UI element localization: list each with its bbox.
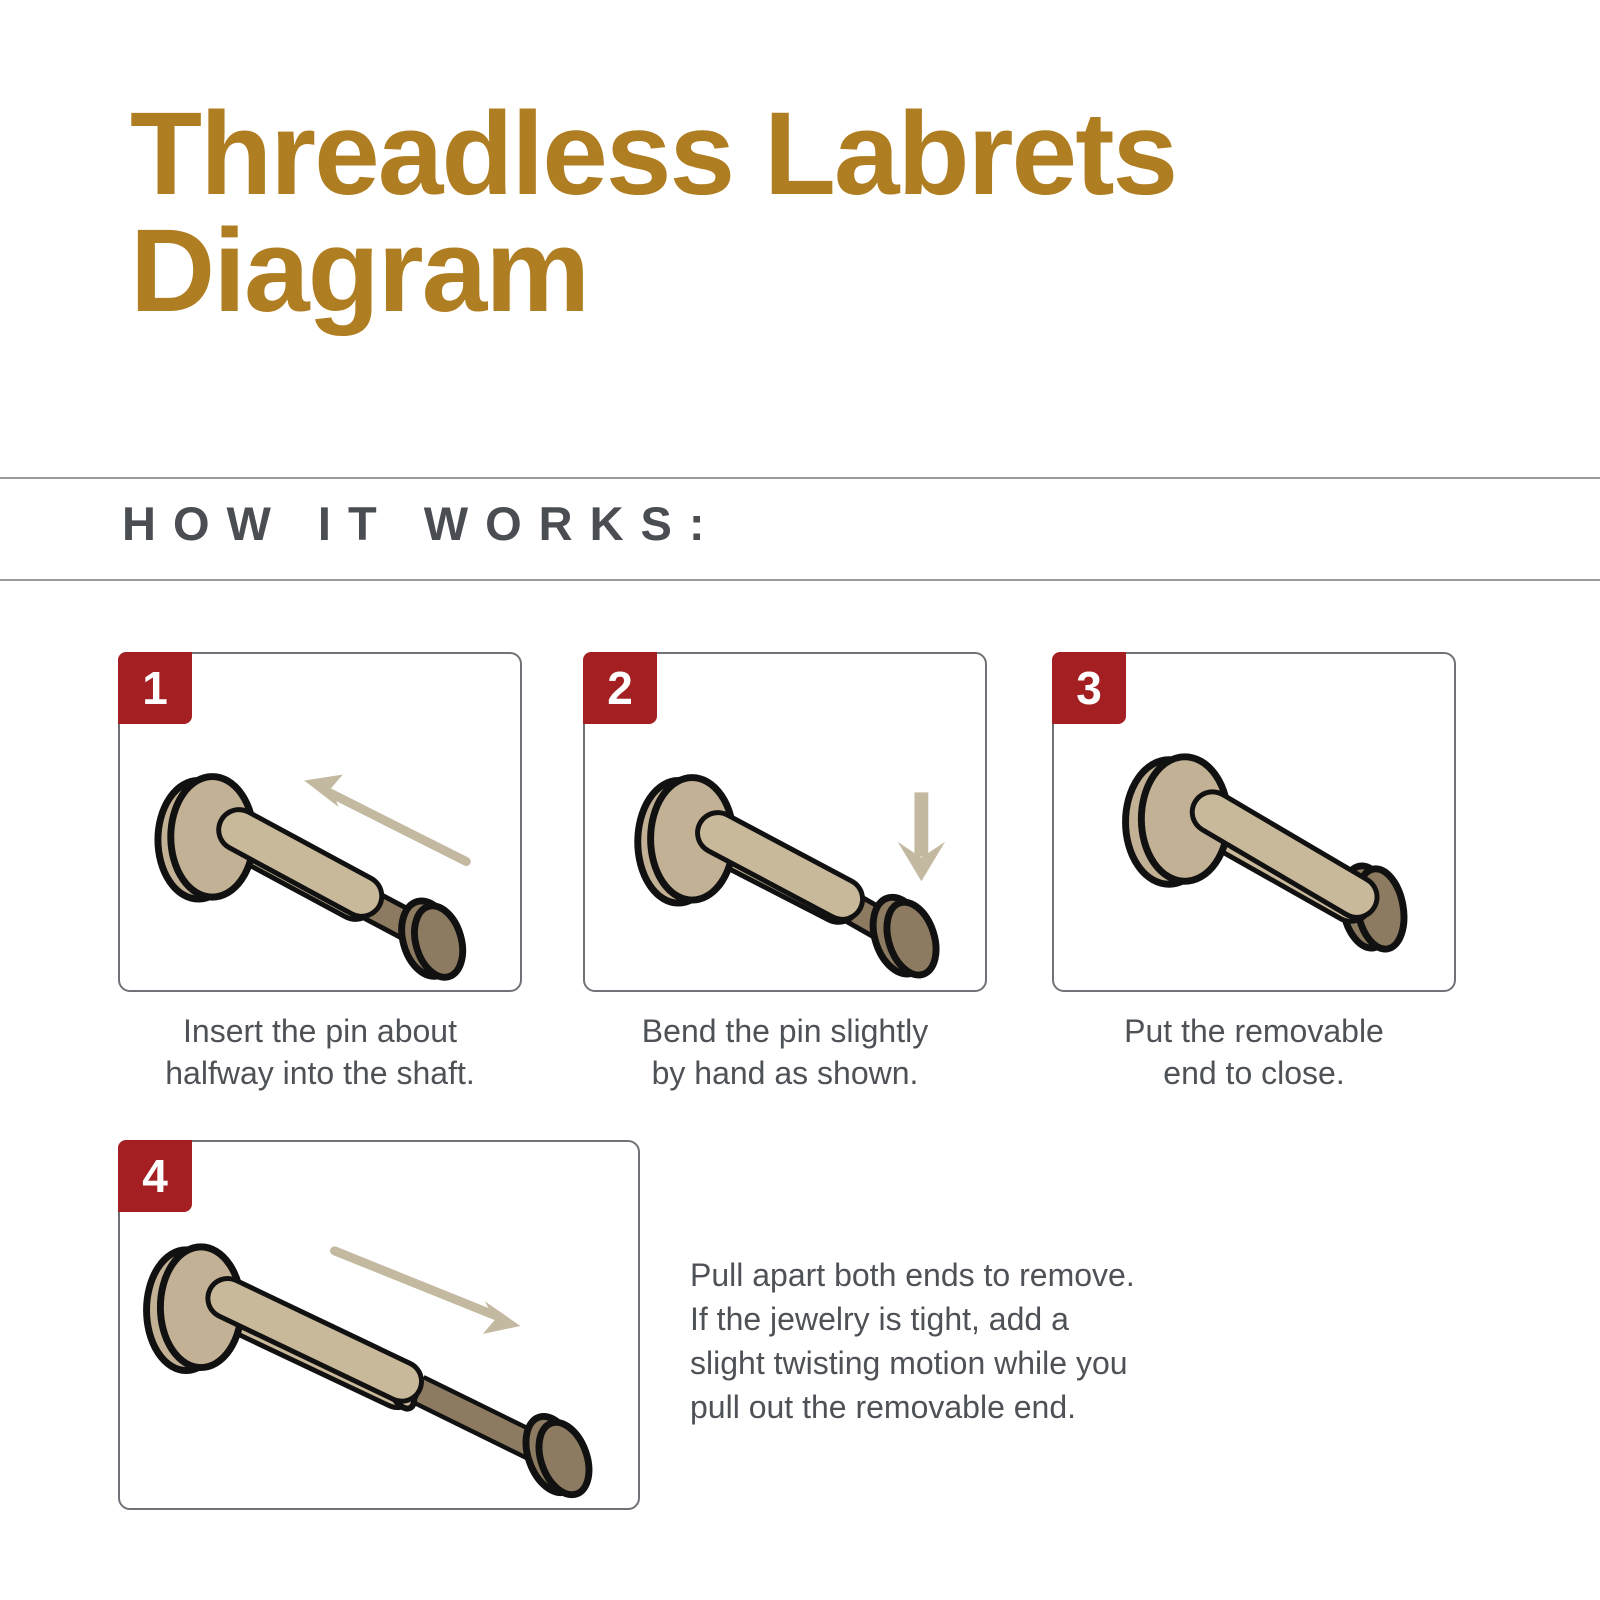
step-number-badge-4: 4 xyxy=(118,1140,192,1212)
divider-bottom xyxy=(0,579,1600,581)
arrow-down-icon xyxy=(898,792,945,881)
infographic-page: Threadless Labrets Diagram HOW IT WORKS:… xyxy=(0,0,1600,1600)
labret-pin-dark xyxy=(418,1389,599,1501)
section-heading: HOW IT WORKS: xyxy=(122,496,722,551)
step-caption-2: Bend the pin slightly by hand as shown. xyxy=(583,1010,987,1094)
step-number-badge-1: 1 xyxy=(118,652,192,724)
page-title-line-2: Diagram xyxy=(130,213,1430,330)
step-panel-4: 4 xyxy=(118,1140,640,1510)
arrow-up-left-icon xyxy=(304,775,466,862)
step-panel-3: 3 xyxy=(1052,652,1456,992)
step-panel-1: 1 xyxy=(118,652,522,992)
labret-shaft-front xyxy=(718,833,843,899)
step-number-badge-2: 2 xyxy=(583,652,657,724)
step-number-badge-3: 3 xyxy=(1052,652,1126,724)
divider-top xyxy=(0,477,1600,479)
page-title-line-1: Threadless Labrets xyxy=(130,96,1430,213)
step-panel-2: 2 xyxy=(583,652,987,992)
step-caption-4: Pull apart both ends to remove. If the j… xyxy=(690,1253,1160,1430)
step-caption-1: Insert the pin about halfway into the sh… xyxy=(118,1010,522,1094)
step-caption-3: Put the removable end to close. xyxy=(1052,1010,1456,1094)
arrow-down-right-icon xyxy=(334,1251,520,1334)
labret-shaft-front xyxy=(239,830,362,896)
page-title: Threadless Labrets Diagram xyxy=(130,96,1430,330)
labret-illustration-step-4 xyxy=(120,1142,638,1508)
